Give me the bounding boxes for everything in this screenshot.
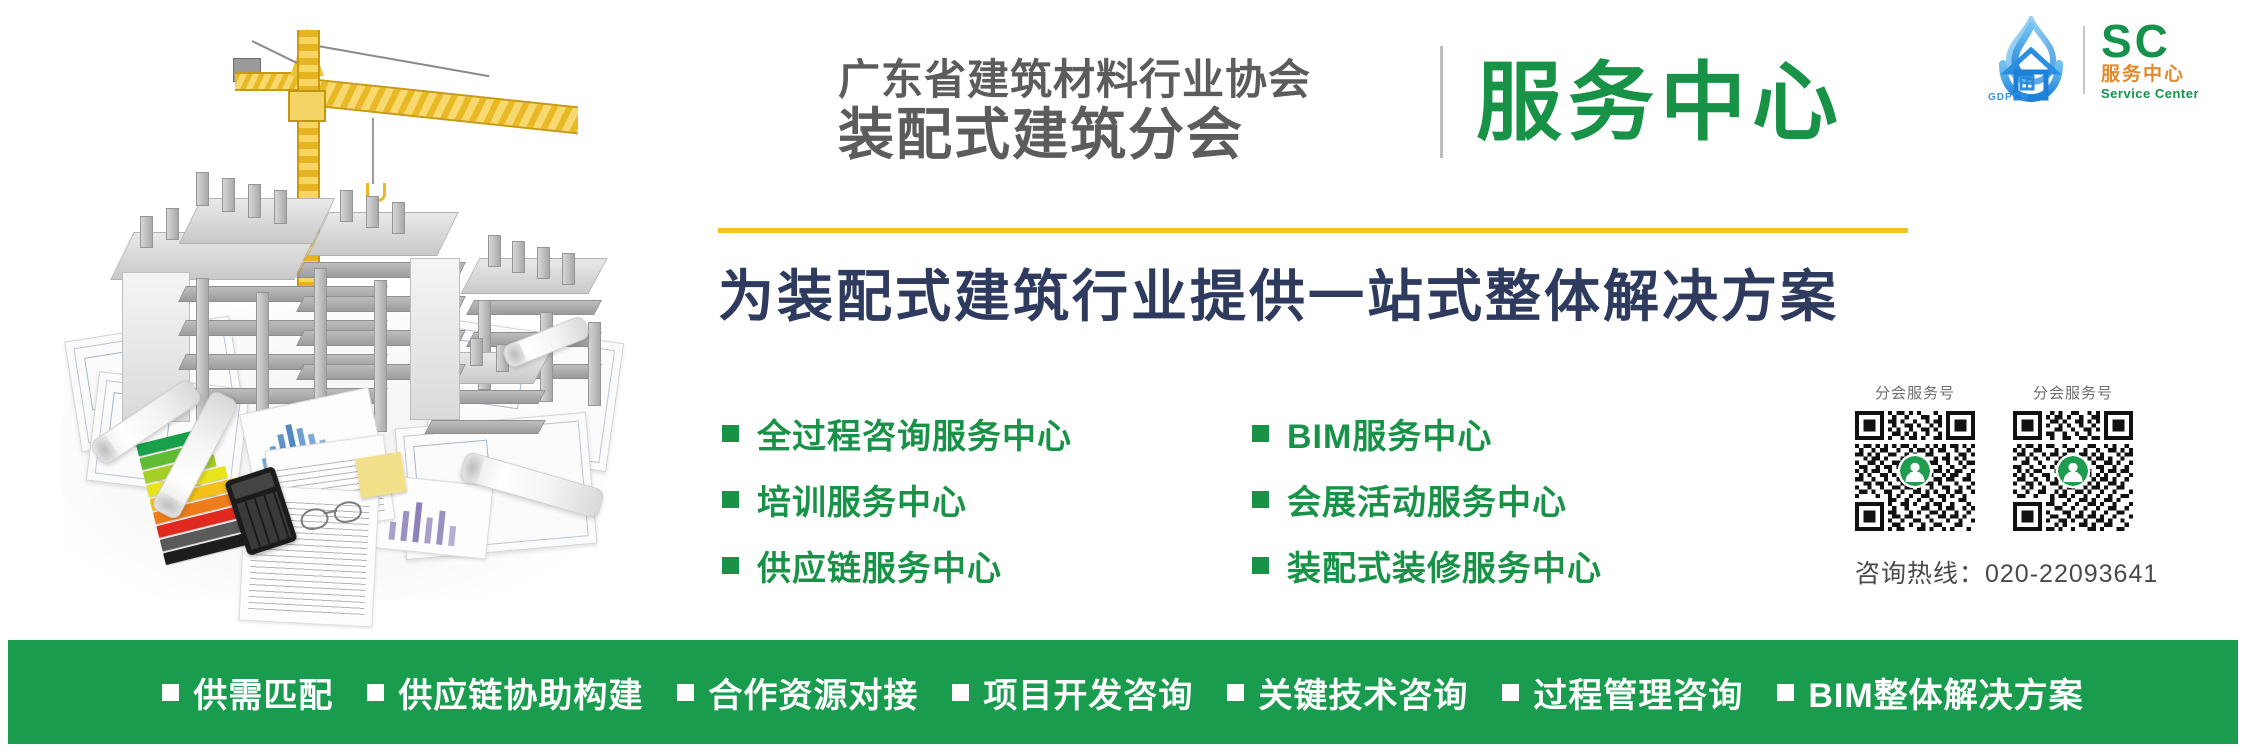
bullet-square-icon: [1252, 491, 1269, 508]
association-line-1: 广东省建筑材料行业协会: [838, 55, 1418, 105]
association-line-2: 装配式建筑分会: [838, 105, 1418, 165]
service-item[interactable]: 全过程咨询服务中心: [722, 400, 1252, 466]
footer-item[interactable]: 供需匹配: [162, 668, 333, 717]
footer-item-label: BIM整体解决方案: [1808, 668, 2083, 717]
qr-code-image[interactable]: [1855, 411, 1975, 531]
footer-item-label: 供需匹配: [193, 668, 333, 717]
service-item-label: 会展活动服务中心: [1287, 475, 1567, 524]
hotline-text: 咨询热线：020-22093641: [1855, 554, 2158, 590]
crane-cabin: [288, 90, 326, 122]
qr-code-image[interactable]: [2013, 411, 2133, 531]
bullet-square-icon: [1252, 557, 1269, 574]
crane-jib: [308, 78, 578, 134]
footer-item-label: 供应链协助构建: [398, 668, 643, 717]
service-item[interactable]: 培训服务中心: [722, 466, 1252, 532]
logo-sc-text: SC: [2101, 19, 2199, 63]
service-item[interactable]: 装配式装修服务中心: [1252, 532, 1782, 598]
bullet-square-icon: [677, 684, 694, 701]
footer-item[interactable]: 供应链协助构建: [367, 668, 643, 717]
service-column-right: BIM服务中心 会展活动服务中心 装配式装修服务中心: [1252, 400, 1782, 598]
footer-item[interactable]: BIM整体解决方案: [1777, 668, 2083, 717]
bullet-square-icon: [162, 684, 179, 701]
qr-caption: 分会服务号: [2013, 382, 2133, 403]
logo-text-block: SC 服务中心 Service Center: [2101, 19, 2199, 102]
bullet-square-icon: [1252, 425, 1269, 442]
footer-item[interactable]: 项目开发咨询: [952, 668, 1193, 717]
bullet-square-icon: [1777, 684, 1794, 701]
footer-item-label: 项目开发咨询: [983, 668, 1193, 717]
bullet-square-icon: [722, 491, 739, 508]
bullet-square-icon: [1502, 684, 1519, 701]
service-column-left: 全过程咨询服务中心 培训服务中心 供应链服务中心: [722, 400, 1252, 598]
footer-item-label: 关键技术咨询: [1258, 668, 1468, 717]
service-item[interactable]: 会展活动服务中心: [1252, 466, 1782, 532]
bullet-square-icon: [722, 557, 739, 574]
bullet-square-icon: [367, 684, 384, 701]
association-name: 广东省建筑材料行业协会 装配式建筑分会: [838, 55, 1418, 165]
service-item-label: 全过程咨询服务中心: [757, 409, 1072, 458]
crane-cable: [312, 44, 490, 77]
qr-code-section: 分会服务号: [1855, 382, 2225, 531]
service-item[interactable]: BIM服务中心: [1252, 400, 1782, 466]
qr-code-block: 分会服务号: [2013, 382, 2133, 531]
logo-mark-caption: GDPCB: [1988, 92, 2029, 103]
yellow-divider-rule: [718, 228, 1908, 233]
service-center-list: 全过程咨询服务中心 培训服务中心 供应链服务中心 BIM服务中心 会展活动服务中…: [722, 400, 1782, 598]
service-item-label: 供应链服务中心: [757, 541, 1002, 590]
service-item-label: BIM服务中心: [1287, 409, 1492, 458]
crane-hook-line: [372, 118, 374, 184]
bullet-square-icon: [1227, 684, 1244, 701]
footer-item-list: 供需匹配 供应链协助构建 合作资源对接 项目开发咨询 关键技术咨询 过程管理咨询: [162, 668, 2083, 717]
hero-illustration: [0, 0, 660, 640]
banner-root: 广东省建筑材料行业协会 装配式建筑分会 服务中心 为装配式建筑行业提供一站式整体…: [0, 0, 2246, 752]
service-center-title: 服务中心: [1476, 48, 1844, 158]
service-item-label: 装配式装修服务中心: [1287, 541, 1602, 590]
logo-divider: [2083, 26, 2085, 94]
service-item-label: 培训服务中心: [757, 475, 967, 524]
logo-chinese-text: 服务中心: [2101, 63, 2199, 86]
sticky-note: [355, 452, 407, 499]
bullet-square-icon: [952, 684, 969, 701]
footer-item-label: 过程管理咨询: [1533, 668, 1743, 717]
footer-item[interactable]: 合作资源对接: [677, 668, 918, 717]
bullet-square-icon: [722, 425, 739, 442]
footer-bar: 供需匹配 供应链协助构建 合作资源对接 项目开发咨询 关键技术咨询 过程管理咨询: [8, 640, 2238, 744]
banner-subtitle: 为装配式建筑行业提供一站式整体解决方案: [718, 262, 1839, 332]
logo-english-text: Service Center: [2101, 86, 2199, 102]
footer-item[interactable]: 过程管理咨询: [1502, 668, 1743, 717]
header-vertical-divider: [1440, 46, 1443, 158]
qr-code-block: 分会服务号: [1855, 382, 1975, 531]
footer-item[interactable]: 关键技术咨询: [1227, 668, 1468, 717]
footer-item-label: 合作资源对接: [708, 668, 918, 717]
house-flame-logo-icon: [1985, 16, 2077, 104]
service-item[interactable]: 供应链服务中心: [722, 532, 1252, 598]
qr-caption: 分会服务号: [1855, 382, 1975, 403]
